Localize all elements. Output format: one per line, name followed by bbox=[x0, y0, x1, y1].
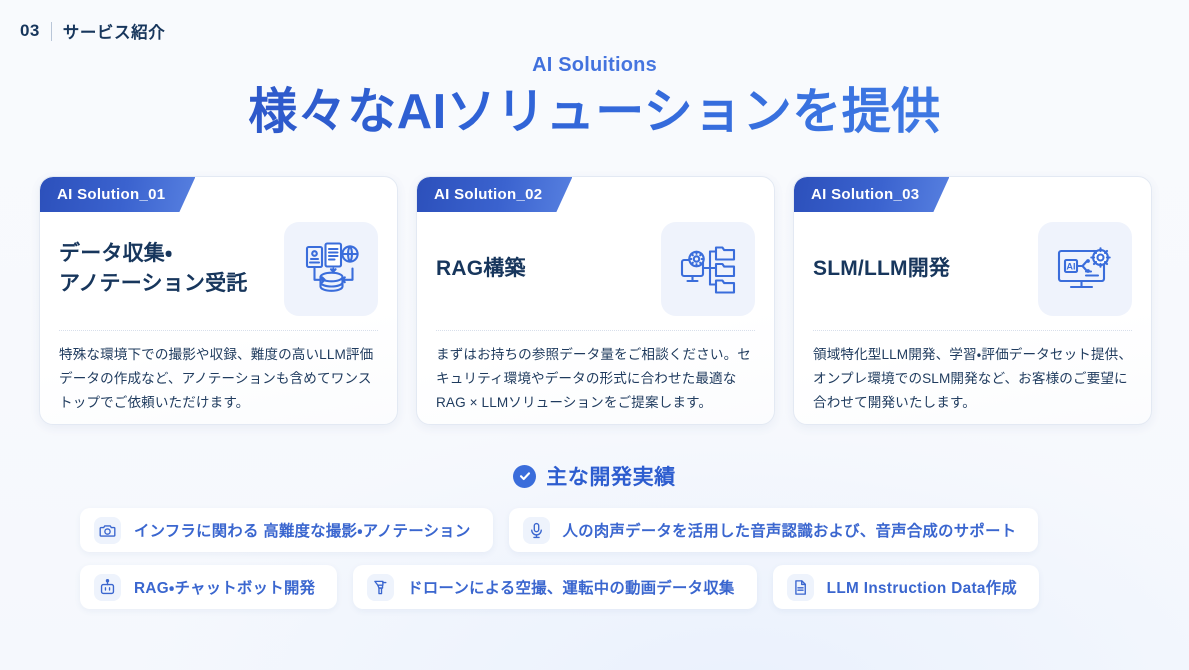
robot-icon bbox=[94, 574, 121, 601]
slide-number: 03 bbox=[20, 21, 40, 41]
card-body-text: 特殊な環境下での撮影や収録、難度の高いLLM評価データの作成など、アノテーション… bbox=[59, 343, 379, 416]
achievement-label: 人の肉声データを活用した音声認識および、音声合成のサポート bbox=[563, 519, 1017, 541]
achievement-label: RAG・チャットボット開発 bbox=[134, 576, 315, 598]
achievement-item[interactable]: 人の肉声データを活用した音声認識および、音声合成のサポート bbox=[509, 508, 1039, 552]
achievement-label: LLM Instruction Data作成 bbox=[827, 576, 1017, 598]
header-divider bbox=[51, 22, 52, 41]
card-title: RAG構築 bbox=[436, 254, 661, 284]
card-badge: AI Solution_02 bbox=[417, 177, 572, 212]
card-body-text: まずはお持ちの参照データ量をご相談ください。セキュリティ環境やデータの形式に合わ… bbox=[436, 343, 756, 416]
achievement-item[interactable]: LLM Instruction Data作成 bbox=[773, 565, 1039, 609]
solution-card[interactable]: AI Solution_02 RAG構築 bbox=[416, 176, 775, 425]
card-divider bbox=[59, 330, 378, 331]
ai-gear-monitor-icon: AI bbox=[1038, 222, 1132, 316]
achievements-heading: 主な開発実績 bbox=[0, 461, 1189, 491]
achievement-item[interactable]: RAG・チャットボット開発 bbox=[80, 565, 337, 609]
card-body-text: 領域特化型LLM開発、学習・評価データセット提供、オンプレ環境でのSLM開発など… bbox=[813, 343, 1133, 416]
achievement-item[interactable]: ドローンによる空撮、運転中の動画データ収集 bbox=[353, 565, 756, 609]
card-title: SLM/LLM開発 bbox=[813, 254, 1038, 284]
card-header-area: SLM/LLM開発 AI bbox=[794, 212, 1151, 325]
achievement-item[interactable]: インフラに関わる 高難度な撮影・アノテーション bbox=[80, 508, 493, 552]
achievements-heading-text: 主な開発実績 bbox=[546, 461, 676, 491]
drone-icon bbox=[367, 574, 394, 601]
microphone-icon bbox=[523, 517, 550, 544]
card-header-area: データ収集・アノテーション受託 bbox=[40, 212, 397, 325]
rag-tree-icon bbox=[661, 222, 755, 316]
solution-card[interactable]: AI Solution_01 データ収集・アノテーション受託 bbox=[39, 176, 398, 425]
page-title: 様々なAIソリューションを提供 bbox=[0, 84, 1189, 142]
slide-root: 03 サービス紹介 AI Soluitions 様々なAIソリューションを提供 … bbox=[0, 0, 1189, 670]
card-divider bbox=[813, 330, 1132, 331]
card-header-area: RAG構築 bbox=[417, 212, 774, 325]
achievements-row: RAG・チャットボット開発 ドローンによる空撮、運転中の動画データ収集 bbox=[80, 565, 1110, 609]
achievement-label: ドローンによる空撮、運転中の動画データ収集 bbox=[407, 576, 734, 598]
achievement-label: インフラに関わる 高難度な撮影・アノテーション bbox=[134, 519, 471, 541]
slide-section-title: サービス紹介 bbox=[63, 19, 166, 43]
solution-card[interactable]: AI Solution_03 SLM/LLM開発 AI bbox=[793, 176, 1152, 425]
camera-icon bbox=[94, 517, 121, 544]
check-circle-icon bbox=[513, 465, 536, 488]
card-badge: AI Solution_01 bbox=[40, 177, 195, 212]
slide-header: 03 サービス紹介 bbox=[20, 18, 165, 44]
card-badge: AI Solution_03 bbox=[794, 177, 949, 212]
document-icon bbox=[787, 574, 814, 601]
eyebrow-text: AI Soluitions bbox=[0, 54, 1189, 77]
achievements-list: インフラに関わる 高難度な撮影・アノテーション 人の肉声データを活用した音声認識… bbox=[80, 508, 1110, 622]
data-collection-icon bbox=[284, 222, 378, 316]
achievements-row: インフラに関わる 高難度な撮影・アノテーション 人の肉声データを活用した音声認識… bbox=[80, 508, 1110, 552]
svg-text:AI: AI bbox=[1066, 261, 1075, 271]
solution-card-list: AI Solution_01 データ収集・アノテーション受託 bbox=[39, 176, 1152, 425]
card-divider bbox=[436, 330, 755, 331]
card-title: データ収集・アノテーション受託 bbox=[59, 239, 284, 299]
